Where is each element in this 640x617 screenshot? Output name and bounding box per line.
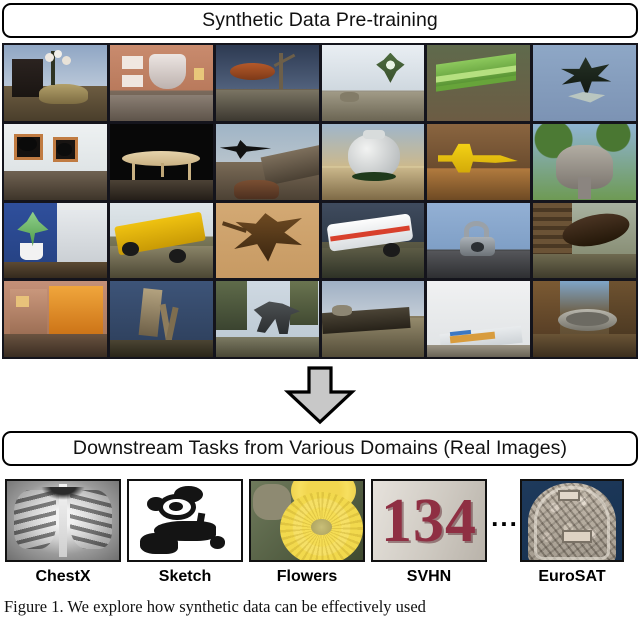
thumbnail-label-flowers: Flowers <box>249 568 365 586</box>
synthetic-tile <box>322 281 425 357</box>
banner-bottom-label: Downstream Tasks from Various Domains (R… <box>73 437 567 460</box>
thumbnail-label-chestx: ChestX <box>5 568 121 586</box>
downstream-tasks-banner: Downstream Tasks from Various Domains (R… <box>2 431 638 466</box>
synthetic-image-grid <box>2 43 638 359</box>
synthetic-tile <box>110 203 213 279</box>
synthetic-tile <box>533 124 636 200</box>
thumbnail-eurosat <box>520 479 624 562</box>
synthetic-tile <box>216 124 319 200</box>
thumbnail-label-eurosat: EuroSAT <box>520 568 624 586</box>
down-arrow <box>284 365 356 425</box>
figure-caption-text: We explore how synthetic data can be eff… <box>67 597 425 616</box>
thumbnail-svhn: 134 <box>371 479 487 562</box>
synthetic-tile <box>322 124 425 200</box>
synthetic-tile <box>110 281 213 357</box>
svhn-digits: 134 <box>381 490 477 552</box>
synthetic-tile <box>110 124 213 200</box>
synthetic-tile <box>322 45 425 121</box>
thumbnail-sketch <box>127 479 243 562</box>
synthetic-tile <box>4 281 107 357</box>
synthetic-tile <box>4 203 107 279</box>
thumbnail-chestx <box>5 479 121 562</box>
synthetic-tile <box>322 203 425 279</box>
synthetic-tile <box>533 281 636 357</box>
thumbnail-label-sketch: Sketch <box>127 568 243 586</box>
figure-caption-label: Figure 1. <box>4 597 64 616</box>
synthetic-tile <box>427 203 530 279</box>
synthetic-tile <box>4 124 107 200</box>
synthetic-tile <box>216 203 319 279</box>
synthetic-tile <box>216 281 319 357</box>
thumbnail-flowers <box>249 479 365 562</box>
synthetic-tile <box>427 281 530 357</box>
synthetic-tile <box>427 124 530 200</box>
figure-root: Synthetic Data Pre-training <box>0 0 640 617</box>
synthetic-tile <box>216 45 319 121</box>
synthetic-tile <box>4 45 107 121</box>
synthetic-tile <box>533 45 636 121</box>
synthetic-tile <box>533 203 636 279</box>
synthetic-tile <box>110 45 213 121</box>
figure-caption: Figure 1. We explore how synthetic data … <box>4 597 636 617</box>
thumbnail-label-svhn: SVHN <box>371 568 487 586</box>
ellipsis: ... <box>490 512 520 522</box>
synthetic-pretraining-banner: Synthetic Data Pre-training <box>2 3 638 38</box>
banner-top-label: Synthetic Data Pre-training <box>202 9 438 32</box>
synthetic-tile <box>427 45 530 121</box>
